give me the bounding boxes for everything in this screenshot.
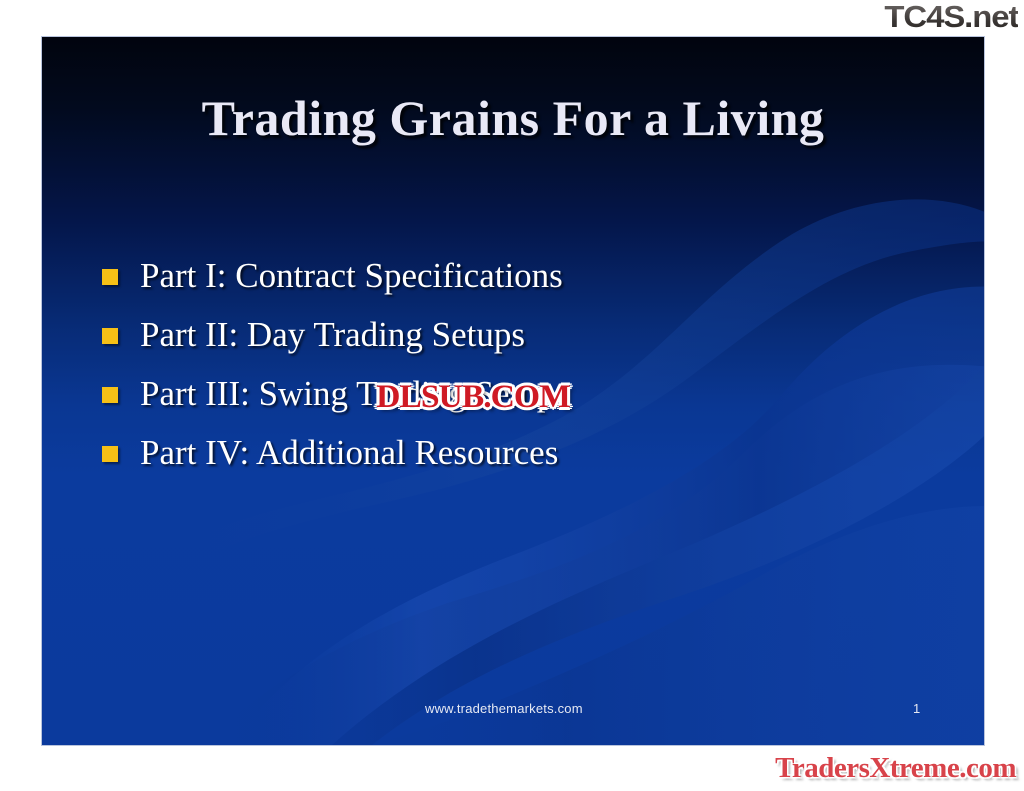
slide-title: Trading Grains For a Living [42,89,984,147]
dlsub-watermark: DLSUB.COM [376,381,570,414]
page-root: TC4S.net [0,0,1024,791]
tradersxtreme-brand-logo: TradersXtreme.com [775,751,1016,785]
presentation-slide: Trading Grains For a Living Part I: Cont… [41,36,985,746]
list-item: Part II: Day Trading Setups [102,312,954,371]
tc4s-site-logo: TC4S.net [884,0,1018,34]
bullet-square-icon [102,446,118,462]
bullet-square-icon [102,328,118,344]
bullet-square-icon [102,269,118,285]
list-item: Part IV: Additional Resources [102,430,954,489]
list-item: Part I: Contract Specifications [102,253,954,312]
footer-url: www.tradethemarkets.com [425,701,583,716]
bullet-label: Part II: Day Trading Setups [140,312,525,357]
bullet-list: Part I: Contract Specifications Part II:… [102,253,954,489]
bullet-label: Part IV: Additional Resources [140,430,558,475]
footer-page-number: 1 [913,701,920,716]
bullet-label: Part I: Contract Specifications [140,253,563,298]
bullet-square-icon [102,387,118,403]
